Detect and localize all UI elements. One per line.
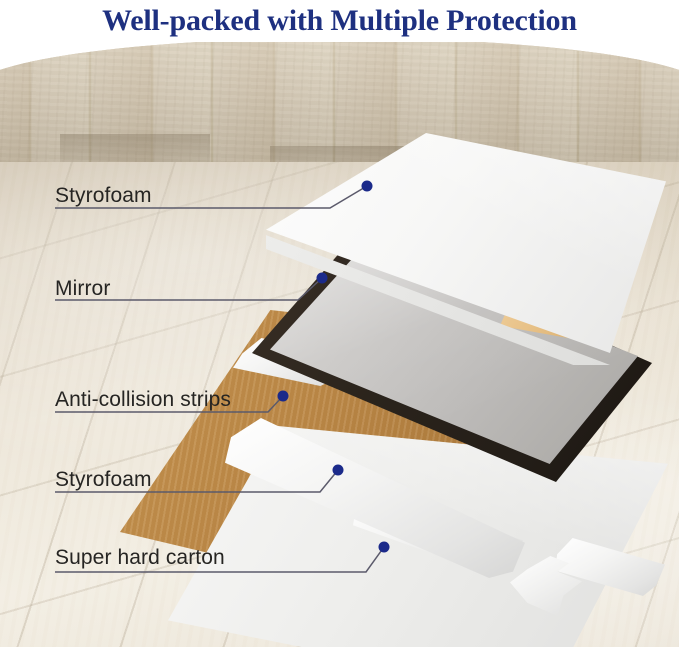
callout-label-mirror: Mirror <box>55 278 110 299</box>
page-title: Well-packed with Multiple Protection <box>102 4 577 38</box>
callout-label-anti-collision-strips: Anti-collision strips <box>55 389 231 410</box>
packaging-infographic: Well-packed with Multiple Protection <box>0 0 679 647</box>
callout-label-super-hard-carton: Super hard carton <box>55 547 225 568</box>
callout-label-styrofoam-bottom: Styrofoam <box>55 469 152 490</box>
title-bar: Well-packed with Multiple Protection <box>0 0 679 42</box>
callout-label-styrofoam-top: Styrofoam <box>55 185 152 206</box>
